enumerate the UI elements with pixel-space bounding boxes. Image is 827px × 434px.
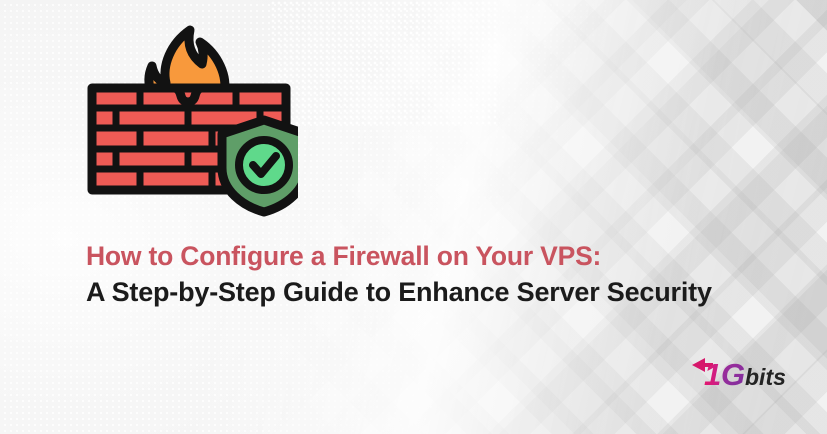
logo-word-bits: bits: [745, 364, 786, 390]
article-banner: How to Configure a Firewall on Your VPS:…: [0, 0, 827, 434]
shield-check-icon: [222, 120, 298, 212]
page-title-line-2: A Step-by-Step Guide to Enhance Server S…: [86, 274, 786, 310]
firewall-with-shield-illustration: [78, 22, 298, 217]
1gbits-logo[interactable]: 1 G bits: [690, 352, 795, 394]
logo-letter-g: G: [721, 357, 745, 392]
page-title-line-1: How to Configure a Firewall on Your VPS:: [86, 238, 786, 274]
logo-digit-one: 1: [704, 357, 721, 392]
page-title: How to Configure a Firewall on Your VPS:…: [86, 238, 786, 310]
background-dot-grid-dense: [270, 0, 500, 125]
